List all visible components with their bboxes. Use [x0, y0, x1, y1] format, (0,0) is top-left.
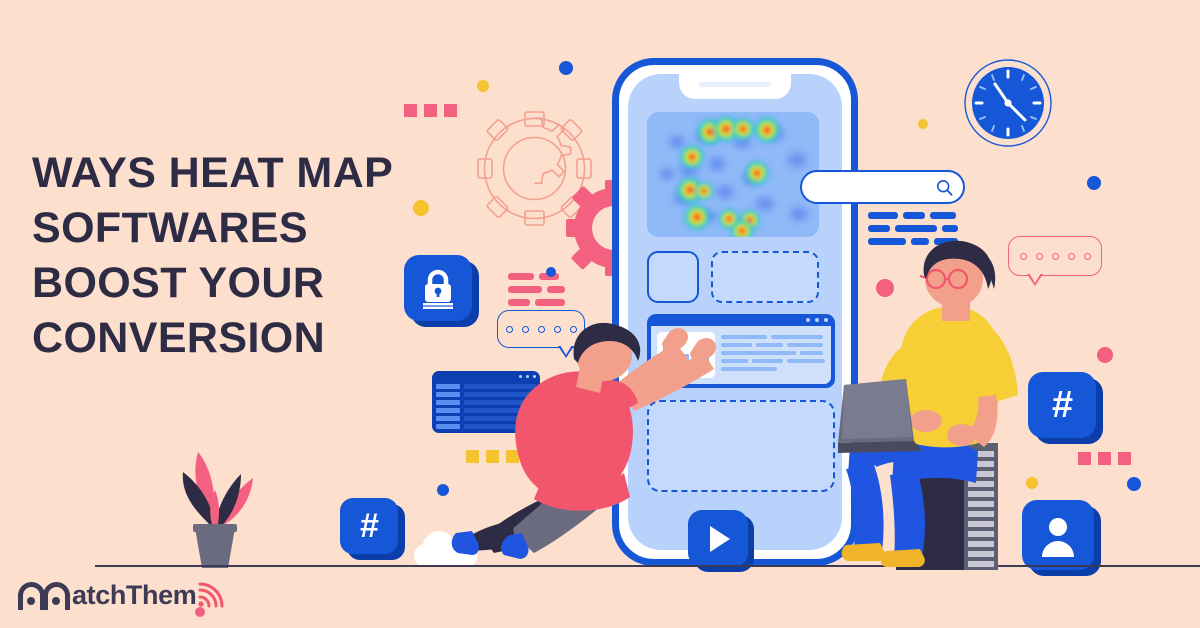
- dot-blue-3: [1087, 176, 1101, 190]
- dot-blue-2: [546, 267, 556, 277]
- hashtag-icon[interactable]: #: [340, 498, 406, 560]
- lock-icon-face: [404, 255, 472, 321]
- dot-pink-2: [1097, 347, 1113, 363]
- dot-yellow-2: [413, 200, 429, 216]
- text-lines-blue: [868, 212, 958, 245]
- card-text-lines: [721, 332, 825, 378]
- logo-tail-left: [18, 598, 23, 610]
- person-kneeling-illustration: [452, 325, 722, 570]
- search-input[interactable]: [800, 170, 965, 204]
- logo-tail-right: [43, 598, 48, 610]
- search-icon[interactable]: [936, 179, 953, 196]
- watchthem-eyes-mark: [18, 578, 76, 612]
- dot-blue-4: [1127, 477, 1141, 491]
- plant-leaves: [183, 452, 253, 529]
- phone-speaker: [699, 82, 771, 87]
- text-lines-pink: [508, 273, 565, 306]
- dot-blue-5: [437, 484, 449, 496]
- headline-line-1: WAYS HEAT MAP: [32, 146, 462, 201]
- dot-blue-1: [559, 61, 573, 75]
- plant-pot-rim: [193, 524, 237, 532]
- wifi-signal-icon: [198, 583, 220, 607]
- dot-pink-1: [876, 279, 894, 297]
- headline-line-4: CONVERSION: [32, 311, 462, 366]
- promo-banner: WAYS HEAT MAP SOFTWARES BOOST YOUR CONVE…: [0, 0, 1200, 628]
- content-tile-solid[interactable]: [647, 251, 699, 303]
- decorative-squares-pink-right: [1078, 452, 1131, 465]
- logo-eye-left: [27, 597, 35, 605]
- dot-yellow-4: [1026, 477, 1038, 489]
- person-with-laptop-illustration: [838, 245, 1068, 570]
- logo-eye-right: [52, 597, 60, 605]
- headline-line-3: BOOST YOUR: [32, 256, 462, 311]
- content-tile-dashed[interactable]: [711, 251, 819, 303]
- plant-pot: [195, 528, 235, 568]
- brand-logo[interactable]: atchThem: [18, 578, 220, 612]
- potted-plant: [165, 430, 265, 568]
- wall-clock: [963, 58, 1053, 148]
- hashtag-glyph: #: [340, 498, 398, 554]
- lock-icon[interactable]: [404, 255, 480, 327]
- dot-yellow-1: [477, 80, 489, 92]
- decorative-squares-pink-top: [404, 104, 457, 117]
- window-control-dots: [806, 318, 828, 322]
- logo-wordmark: atchThem: [72, 580, 196, 611]
- heatmap-visualization: [647, 112, 819, 237]
- headline-line-2: SOFTWARES: [32, 201, 462, 256]
- dot-yellow-3: [918, 119, 928, 129]
- page-title: WAYS HEAT MAP SOFTWARES BOOST YOUR CONVE…: [32, 146, 462, 366]
